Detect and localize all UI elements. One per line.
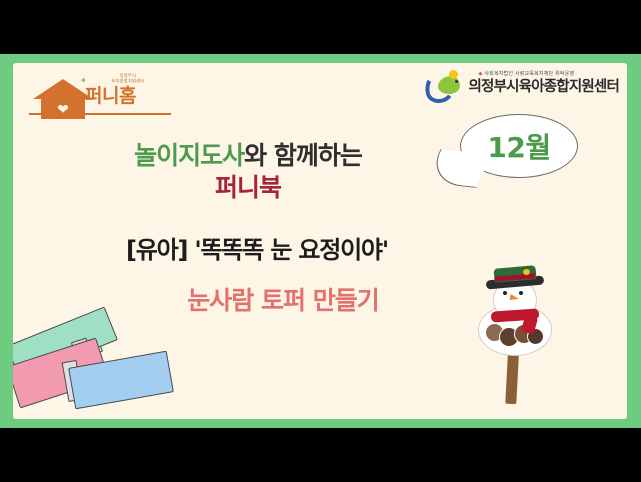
brand-center-texts: ◆ 사회복지법인 사랑교육복지재단 위탁운영 의정부시육아종합지원센터 bbox=[469, 71, 619, 96]
swoosh-yellow-shape bbox=[449, 70, 458, 79]
headline-dark-part: 와 함께하는 bbox=[244, 141, 362, 170]
bird-icon: ✦ bbox=[80, 77, 87, 85]
letterbox-top bbox=[0, 0, 641, 54]
poster-green-frame: ❤ ✦ 의정부시 육아종합지원센터 퍼니홈 bbox=[0, 54, 641, 428]
brand-center-name: 의정부시육아종합지원센터 bbox=[469, 78, 619, 96]
stacked-books-icon bbox=[13, 315, 175, 419]
headline-line-2: 퍼니북 bbox=[13, 173, 483, 203]
snowman-eye-left bbox=[503, 291, 507, 295]
month-speech-bubble: 12월 bbox=[460, 114, 578, 178]
brand-home-underline bbox=[29, 113, 171, 115]
brand-center-subtext: ◆ 사회복지법인 사랑교육복지재단 위탁운영 bbox=[479, 71, 619, 78]
video-frame: ❤ ✦ 의정부시 육아종합지원센터 퍼니홈 bbox=[0, 0, 641, 482]
brand-center-subtext-label: 사회복지법인 사랑교육복지재단 위탁운영 bbox=[484, 71, 574, 77]
snowman-eye-right bbox=[519, 291, 523, 295]
subtitle-line-2: 눈사람 토퍼 만들기 bbox=[103, 285, 463, 317]
month-label: 12월 bbox=[461, 115, 577, 177]
swoosh-green-shape bbox=[438, 76, 460, 94]
headline-green-part: 놀이지도사 bbox=[134, 141, 244, 170]
brand-home-subtext: 의정부시 육아종합지원센터 bbox=[87, 74, 169, 84]
poster-content-card: ❤ ✦ 의정부시 육아종합지원센터 퍼니홈 bbox=[13, 63, 627, 419]
brand-childcare-center: ◆ 사회복지법인 사랑교육복지재단 위탁운영 의정부시육아종합지원센터 bbox=[425, 66, 619, 100]
snowman-hat-holly-icon bbox=[523, 269, 530, 275]
brand-home-name: 퍼니홈 bbox=[85, 85, 136, 107]
subtitle-line-1: [유아] '똑똑똑 눈 요정이야' bbox=[47, 235, 467, 265]
snowman-topper-icon bbox=[461, 266, 581, 406]
headline-line-1: 놀이지도사와 함께하는 bbox=[13, 141, 483, 171]
brand-center-bullet-icon: ◆ bbox=[479, 71, 483, 77]
swoosh-logo-icon bbox=[425, 68, 467, 98]
letterbox-bottom bbox=[0, 428, 641, 482]
brand-funnyhome: ❤ ✦ 의정부시 육아종합지원센터 퍼니홈 bbox=[25, 69, 175, 125]
swoosh-eye-dot bbox=[455, 80, 458, 83]
brand-home-subtext-line2: 육아종합지원센터 bbox=[87, 79, 169, 84]
